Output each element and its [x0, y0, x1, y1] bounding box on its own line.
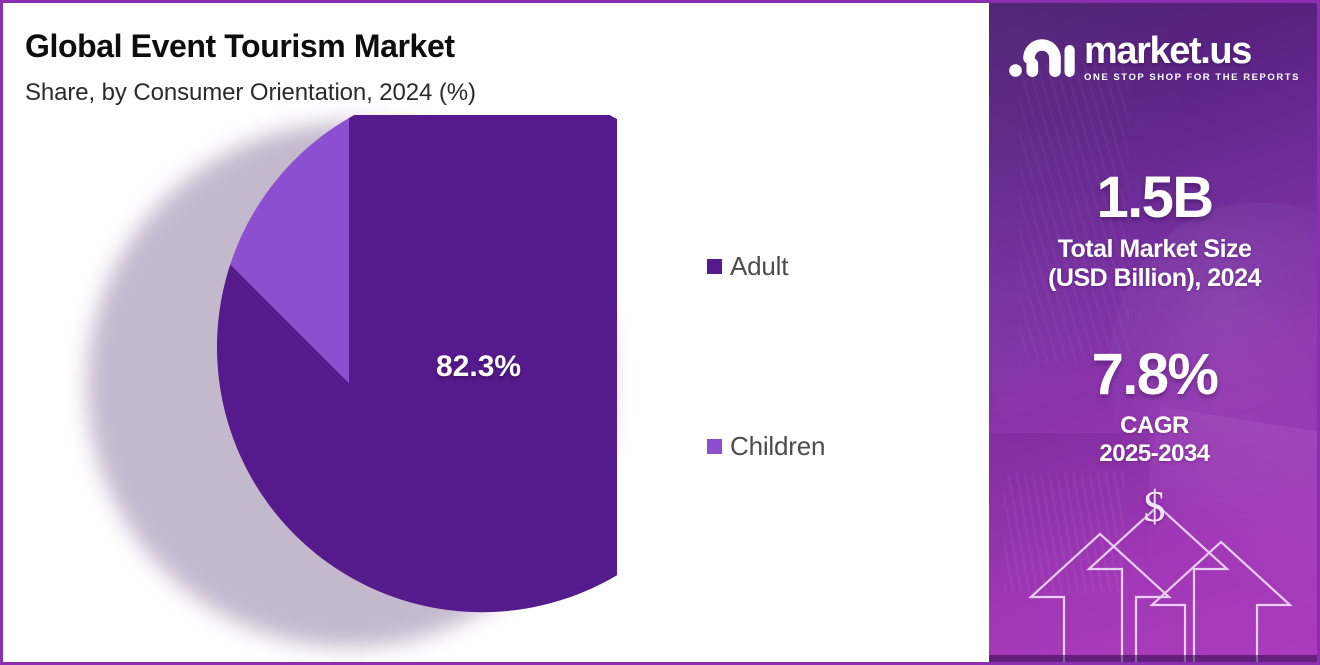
chart-panel: Global Event Tourism Market Share, by Co… — [3, 3, 989, 662]
legend-item-label: Children — [730, 431, 825, 462]
stat-caption-line: CAGR — [989, 412, 1320, 440]
stat-caption-line: 2025-2034 — [989, 440, 1320, 468]
stat-caption-line: (USD Billion), 2024 — [989, 264, 1320, 294]
stats-panel: market.us ONE STOP SHOP FOR THE REPORTS … — [989, 3, 1320, 662]
stat-block-cagr: 7.8% CAGR 2025-2034 — [989, 345, 1320, 469]
stat-block-market-size: 1.5B Total Market Size (USD Billion), 20… — [989, 168, 1320, 294]
pie-slice-value-label: 82.3% — [436, 350, 521, 384]
dollar-sign-icon: $ — [989, 485, 1320, 529]
square-swatch-icon — [707, 439, 722, 454]
logo-wordmark: market.us — [1084, 33, 1300, 69]
pie-chart-svg — [81, 115, 617, 651]
logo-tagline: ONE STOP SHOP FOR THE REPORTS — [1084, 72, 1300, 83]
logo-text-block: market.us ONE STOP SHOP FOR THE REPORTS — [1084, 33, 1300, 83]
legend-item-children[interactable]: Children — [707, 433, 967, 459]
legend-item-label: Adult — [730, 251, 788, 282]
chart-legend: Adult Children — [707, 253, 967, 459]
stat-caption: Total Market Size (USD Billion), 2024 — [989, 235, 1320, 294]
stat-caption: CAGR 2025-2034 — [989, 412, 1320, 469]
stat-caption-line: Total Market Size — [989, 235, 1320, 265]
market-us-signal-bars-icon — [1009, 36, 1075, 80]
stat-value: 1.5B — [989, 168, 1320, 229]
brand-logo[interactable]: market.us ONE STOP SHOP FOR THE REPORTS — [989, 33, 1320, 83]
legend-item-adult[interactable]: Adult — [707, 253, 967, 279]
stat-value: 7.8% — [989, 345, 1320, 406]
growth-arrows-graphic: $ — [989, 477, 1320, 662]
panel-bottom-bar — [989, 655, 1320, 662]
pie-chart: 82.3% — [81, 115, 617, 651]
page-title: Global Event Tourism Market — [25, 28, 455, 65]
infographic-card: Global Event Tourism Market Share, by Co… — [0, 0, 1320, 665]
chart-subtitle: Share, by Consumer Orientation, 2024 (%) — [25, 79, 476, 107]
square-swatch-icon — [707, 259, 722, 274]
